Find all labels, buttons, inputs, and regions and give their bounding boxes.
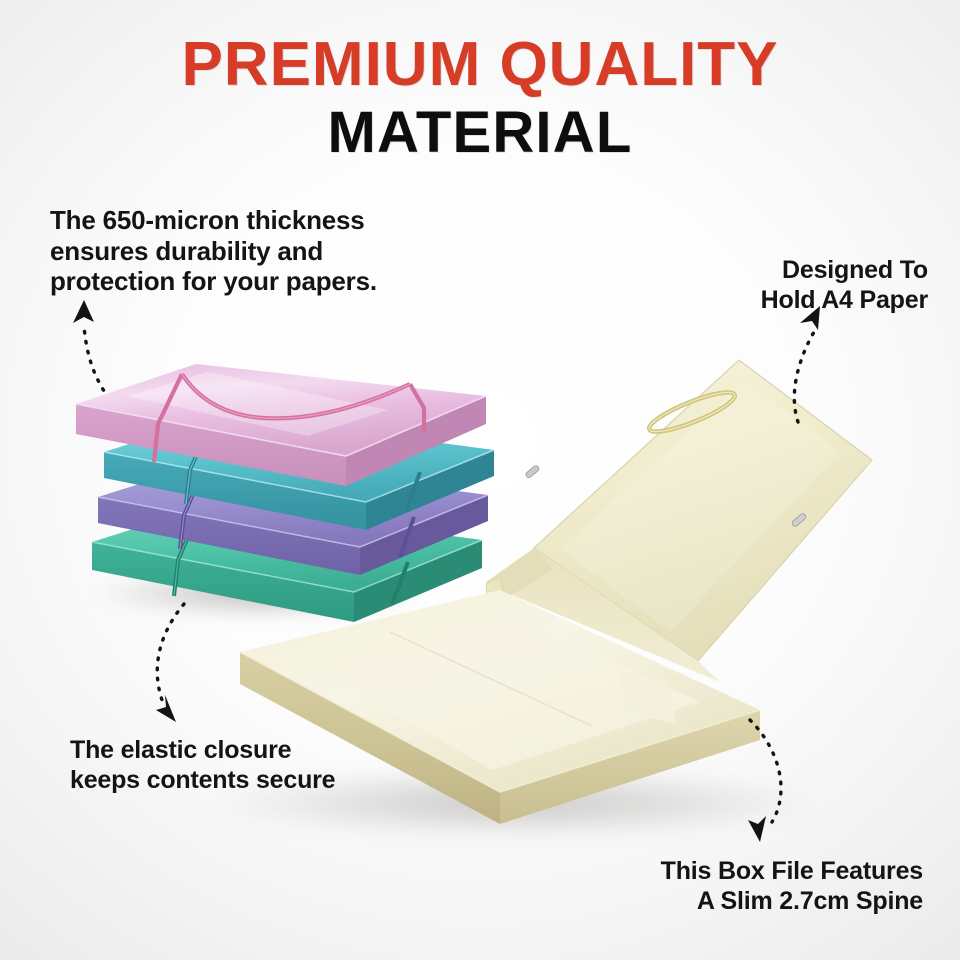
infographic-canvas: PREMIUM QUALITY MATERIAL [0, 0, 960, 960]
lid-rivet-upper [525, 465, 540, 479]
callout-a4-text: Designed To Hold A4 Paper [761, 256, 928, 315]
callout-spine-text: This Box File Features A Slim 2.7cm Spin… [661, 857, 923, 916]
product-photo [0, 0, 960, 960]
callout-thickness-text: The 650-micron thickness ensures durabil… [50, 205, 377, 297]
callout-elastic-text: The elastic closure keeps contents secur… [70, 736, 335, 795]
box-file-pink [58, 352, 488, 492]
